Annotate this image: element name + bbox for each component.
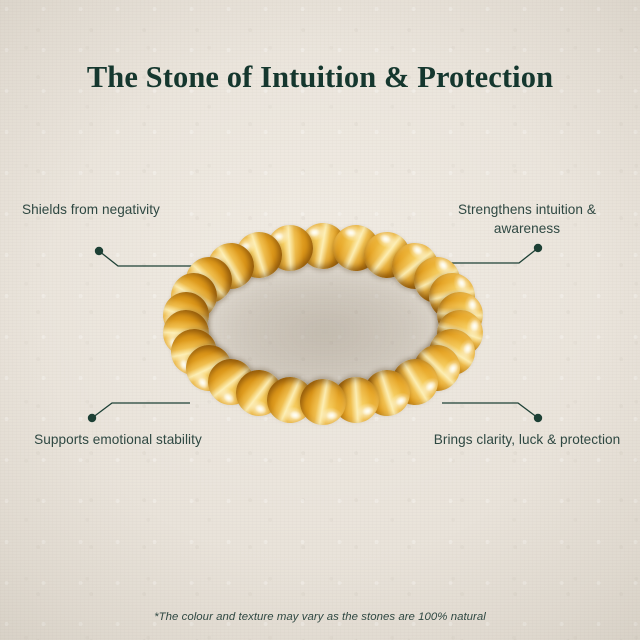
disclaimer-note: *The colour and texture may vary as the … <box>0 611 640 623</box>
infographic-canvas: The Stone of Intuition & Protection Shie… <box>0 0 640 640</box>
page-title: The Stone of Intuition & Protection <box>0 60 640 95</box>
callout-label-supports-emotional-stability: Supports emotional stability <box>18 430 218 449</box>
connector-dot-top-left <box>95 247 103 255</box>
connector-dot-bottom-left <box>88 414 96 422</box>
callout-label-brings-clarity-luck-protection: Brings clarity, luck & protection <box>432 430 622 449</box>
bracelet-image <box>160 222 486 426</box>
bracelet-bead <box>300 379 346 425</box>
connector-dot-bottom-right <box>534 414 542 422</box>
connector-dot-top-right <box>534 244 542 252</box>
callout-label-strengthens-intuition: Strengthens intuition & awareness <box>432 200 622 239</box>
callout-label-shields-from-negativity: Shields from negativity <box>22 200 232 219</box>
